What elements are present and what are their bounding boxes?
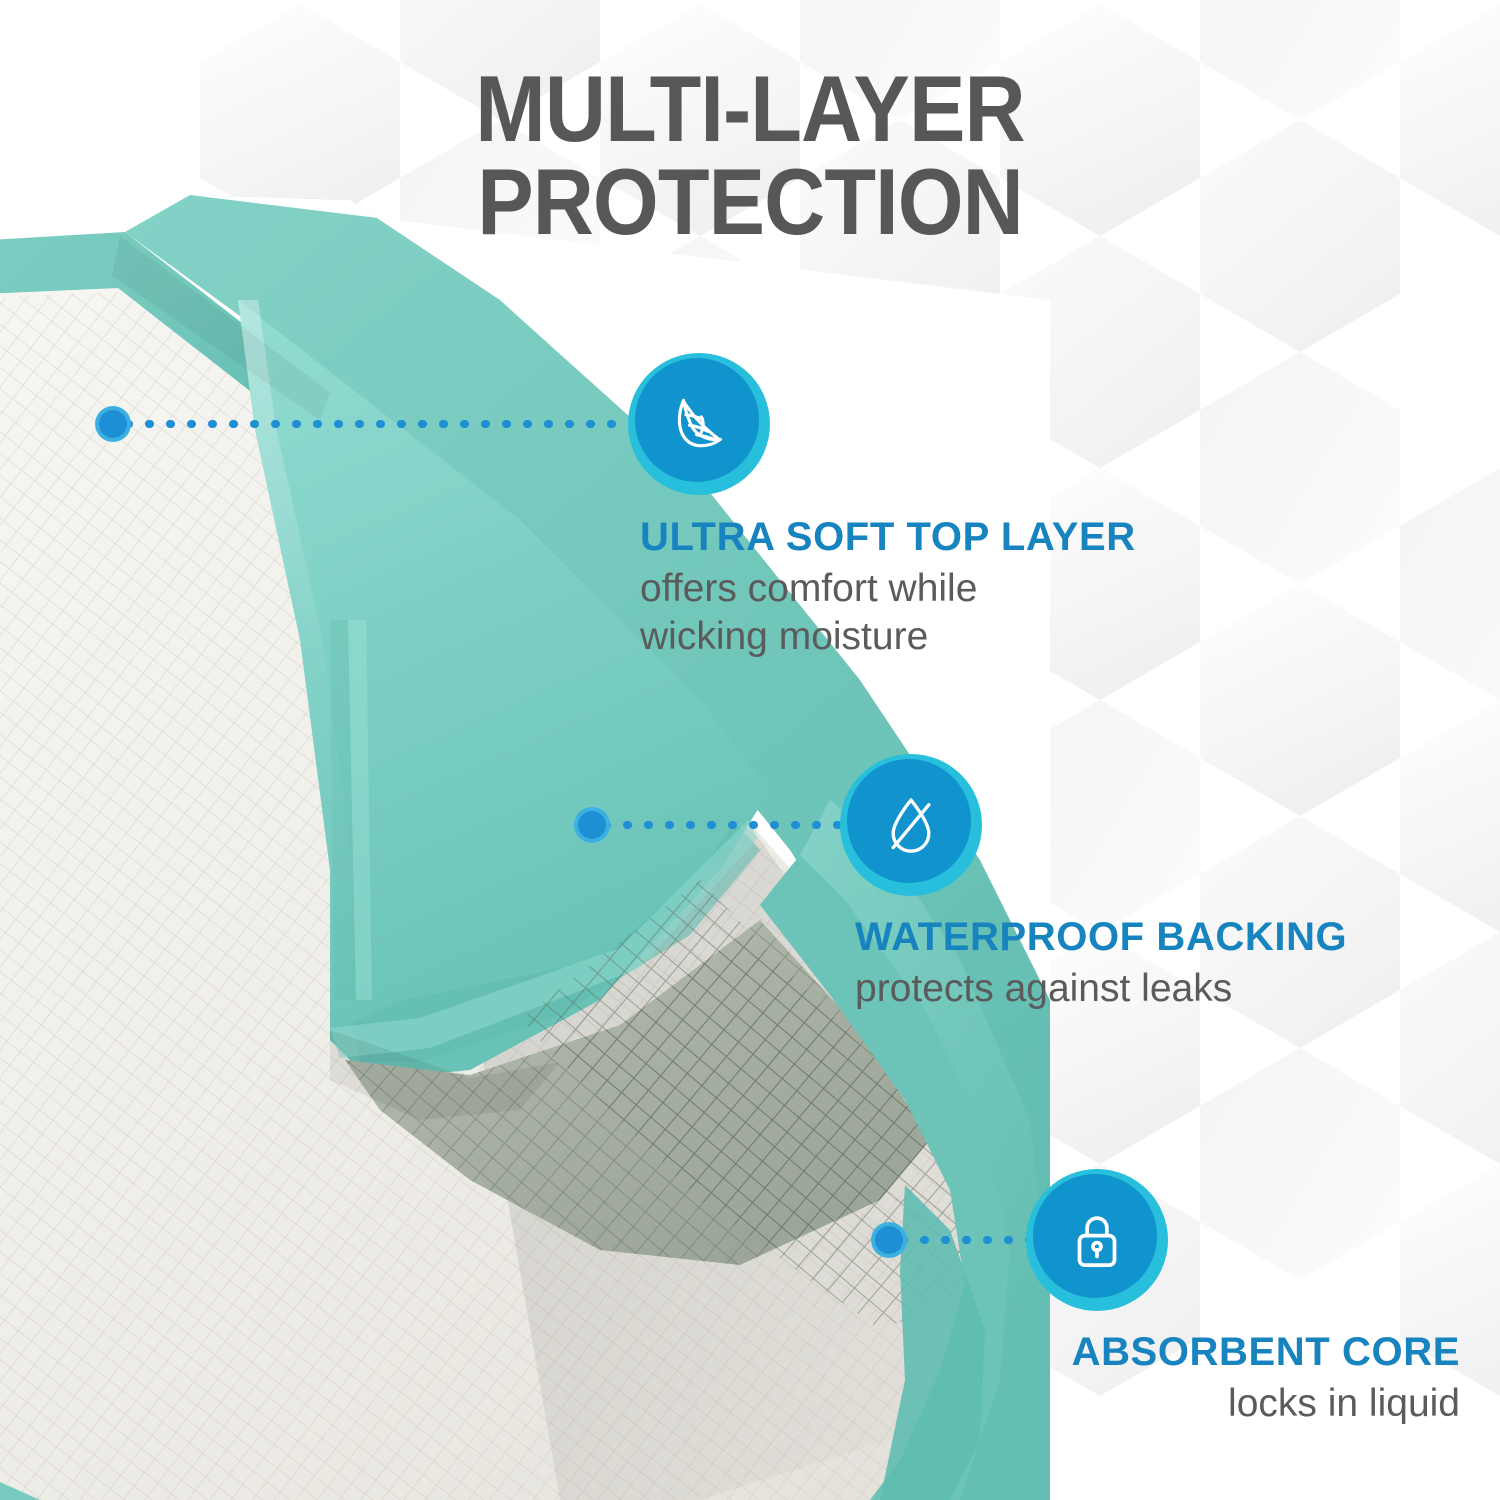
feature-3-heading: ABSORBENT CORE [1020, 1330, 1460, 1374]
feature-absorbent-core: ABSORBENT CORE locks in liquid [0, 0, 1500, 1500]
feature-3-text: ABSORBENT CORE locks in liquid [1020, 1330, 1460, 1428]
padlock-icon-circle[interactable] [1026, 1169, 1168, 1311]
padlock-icon [1062, 1205, 1132, 1275]
callout-marker-2 [574, 807, 610, 843]
feature-3-description: locks in liquid [1020, 1380, 1460, 1428]
infographic-canvas: MULTI-LAYER PROTECTION ULTRA SOFT TOP LA… [0, 0, 1500, 1500]
callout-marker-1 [95, 406, 131, 442]
callout-marker-3 [871, 1222, 907, 1258]
